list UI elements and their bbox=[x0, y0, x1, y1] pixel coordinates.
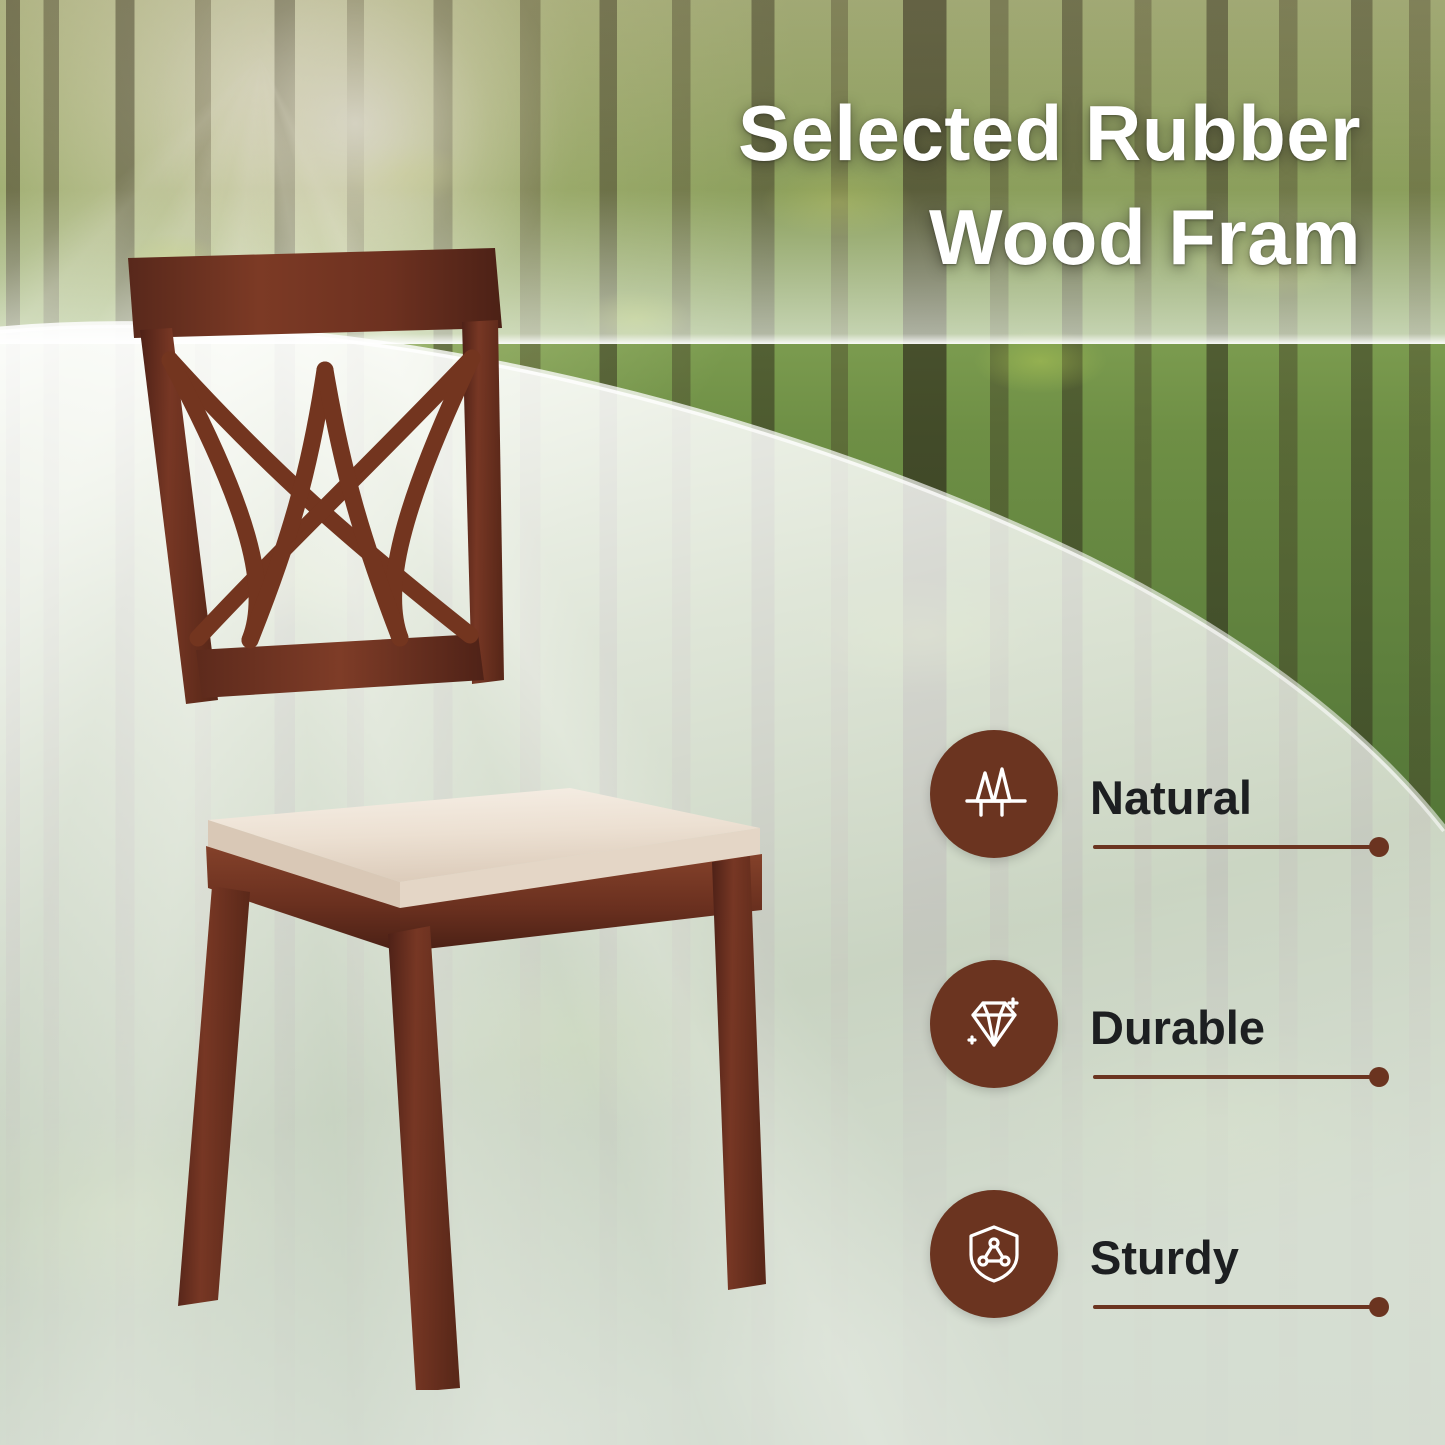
feature-underline bbox=[1093, 1075, 1381, 1079]
feature-item: Durable bbox=[930, 960, 1380, 1190]
feature-item: Natural bbox=[930, 730, 1380, 960]
feature-list: Natural Durable bbox=[930, 730, 1380, 1420]
chair-front-right-leg bbox=[388, 926, 460, 1390]
diamond-icon bbox=[957, 987, 1031, 1061]
feature-end-dot bbox=[1369, 1067, 1389, 1087]
chair-back-right-leg bbox=[712, 856, 766, 1290]
feature-badge-durable bbox=[930, 960, 1058, 1088]
promo-image: Selected Rubber Wood Fram bbox=[0, 0, 1445, 1445]
feature-label: Sturdy bbox=[1090, 1230, 1239, 1285]
headline-line-1: Selected Rubber bbox=[461, 82, 1361, 186]
feature-underline bbox=[1093, 1305, 1381, 1309]
shield-triangle-icon bbox=[957, 1217, 1031, 1291]
dining-chair-product bbox=[100, 210, 820, 1390]
feature-label: Durable bbox=[1090, 1000, 1265, 1055]
feature-badge-sturdy bbox=[930, 1190, 1058, 1318]
feature-label: Natural bbox=[1090, 770, 1252, 825]
chair-top-rail bbox=[128, 248, 502, 338]
feature-end-dot bbox=[1369, 837, 1389, 857]
chair-back-bottom-rail bbox=[196, 634, 484, 698]
feature-end-dot bbox=[1369, 1297, 1389, 1317]
feature-item: Sturdy bbox=[930, 1190, 1380, 1420]
chair-crossback-pattern bbox=[170, 358, 472, 640]
chair-front-left-leg bbox=[178, 886, 250, 1306]
feature-badge-natural bbox=[930, 730, 1058, 858]
feature-underline bbox=[1093, 845, 1381, 849]
trees-icon bbox=[957, 757, 1031, 831]
